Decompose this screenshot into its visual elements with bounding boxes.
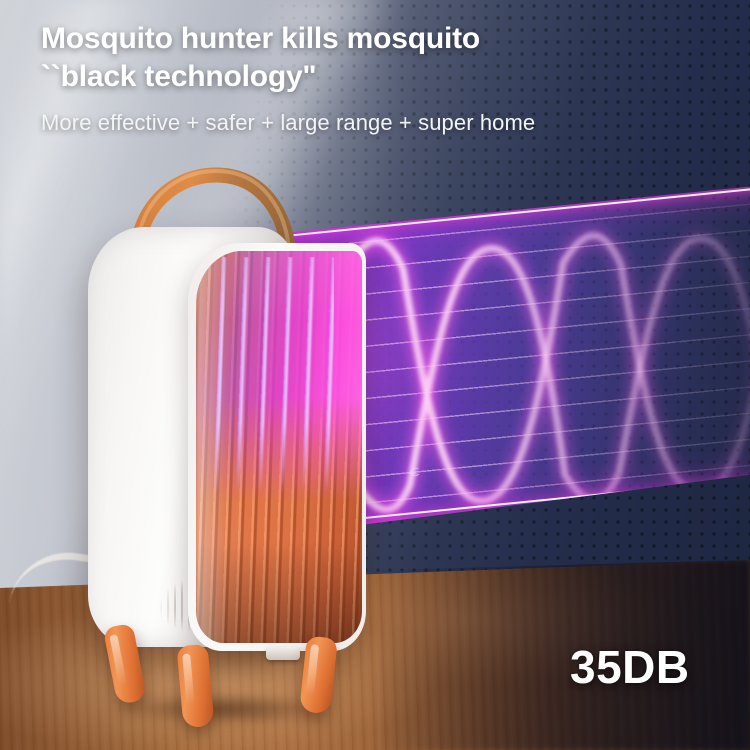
- orange-front-grille: [196, 251, 362, 643]
- poster-subheadline: More effective + safer + large range + s…: [41, 110, 701, 136]
- table-shadow-right: [380, 560, 750, 750]
- poster-headline: Mosquito hunter kills mosquito ``black t…: [41, 20, 681, 96]
- product-poster: Mosquito hunter kills mosquito ``black t…: [0, 0, 750, 750]
- headline-line-2: ``black technology": [41, 58, 681, 96]
- mosquito-killer-lamp: [60, 205, 390, 705]
- noise-level-badge: 35DB: [570, 640, 690, 694]
- charging-port: [266, 647, 300, 660]
- device-leg-center: [176, 644, 214, 728]
- headline-line-1: Mosquito hunter kills mosquito: [41, 22, 480, 55]
- grille-highlight: [196, 251, 248, 643]
